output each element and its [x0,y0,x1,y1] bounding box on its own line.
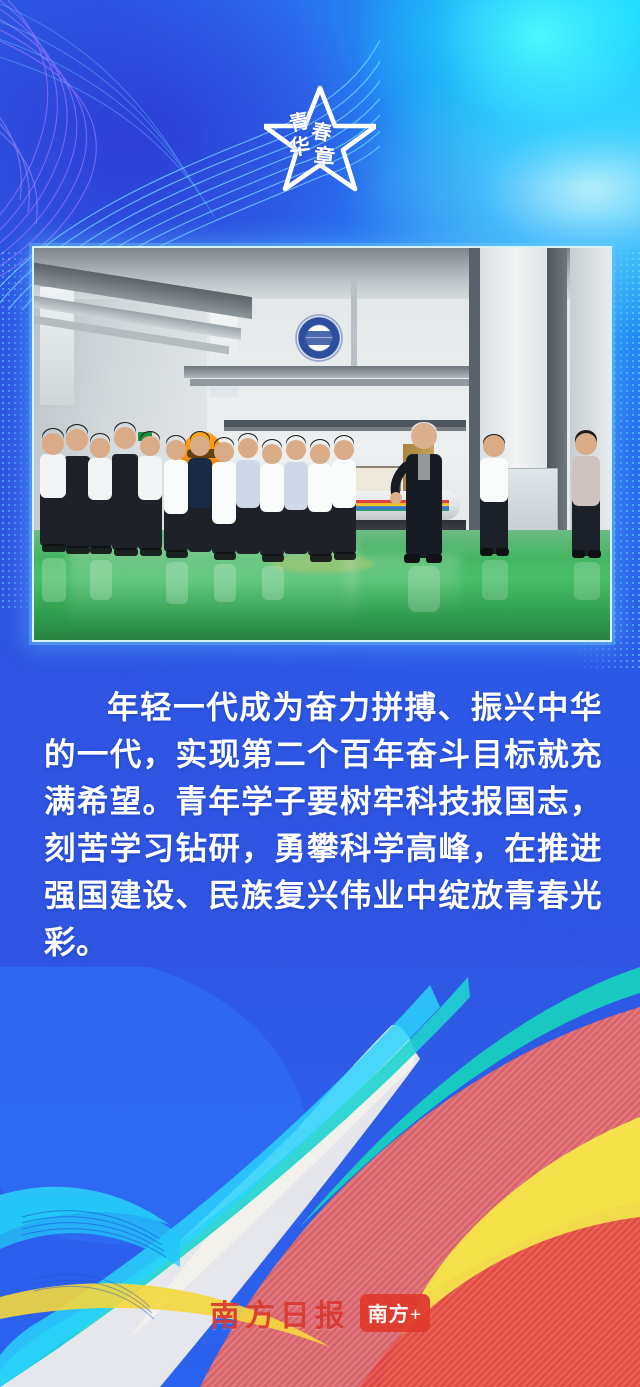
logo-char-zhang: 章 [312,140,336,172]
logo-characters: 青 春 华 章 [264,82,376,194]
photo-frame [32,246,612,642]
side-figure-1 [480,434,509,600]
quote-text: 年轻一代成为奋力拼搏、振兴中华的一代，实现第二个百年奋斗目标就充满希望。青年学子… [44,684,602,966]
logo-char-hua: 华 [287,130,311,162]
photo-image [34,248,610,640]
main-figure [390,422,442,612]
poster-root: 青 春 华 章 [0,0,640,1387]
people-group [34,248,610,640]
logo-container: 青 春 华 章 [0,78,640,198]
brand-footer: 南方日报 南方+ [0,1291,640,1335]
quote-paragraph: 年轻一代成为奋力拼搏、振兴中华的一代，实现第二个百年奋斗目标就充满希望。青年学子… [44,684,602,966]
brand-badge: 南方+ [360,1294,430,1332]
side-figure-2 [572,430,601,600]
brand-name: 南方日报 [210,1291,350,1335]
